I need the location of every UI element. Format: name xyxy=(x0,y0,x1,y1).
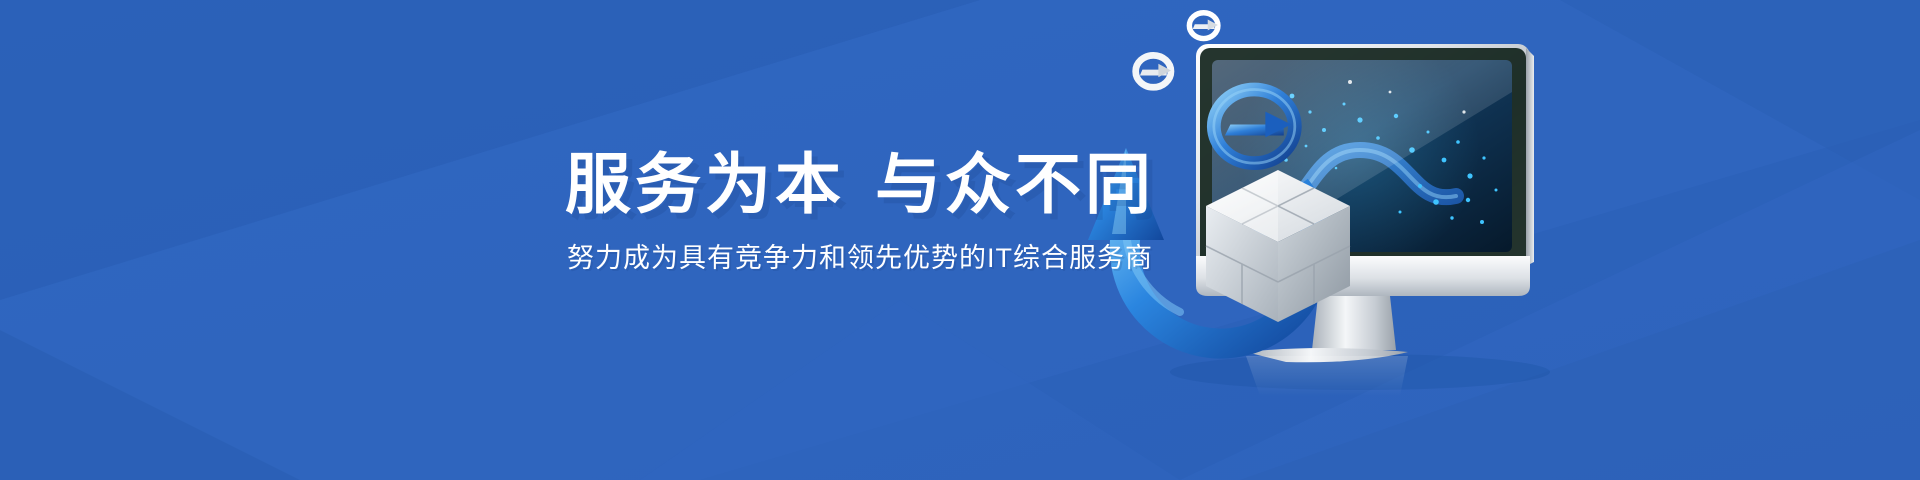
headline-phrase-1: 服务为本 xyxy=(565,147,845,221)
banner-headline: 服务为本与众不同 xyxy=(480,150,1240,219)
hero-banner: 服务为本与众不同 努力成为具有竞争力和领先优势的IT综合服务商 xyxy=(0,0,1920,480)
e-logo-small-2-icon: e xyxy=(1189,13,1218,39)
e-logo-small-1-icon: e xyxy=(1136,55,1171,87)
headline-phrase-2: 与众不同 xyxy=(875,147,1155,221)
banner-copy: 服务为本与众不同 努力成为具有竞争力和领先优势的IT综合服务商 xyxy=(480,150,1240,276)
monitor-stand xyxy=(1312,296,1396,350)
monitor-reflection xyxy=(1246,356,1408,396)
banner-subtitle: 努力成为具有竞争力和领先优势的IT综合服务商 xyxy=(480,241,1240,276)
